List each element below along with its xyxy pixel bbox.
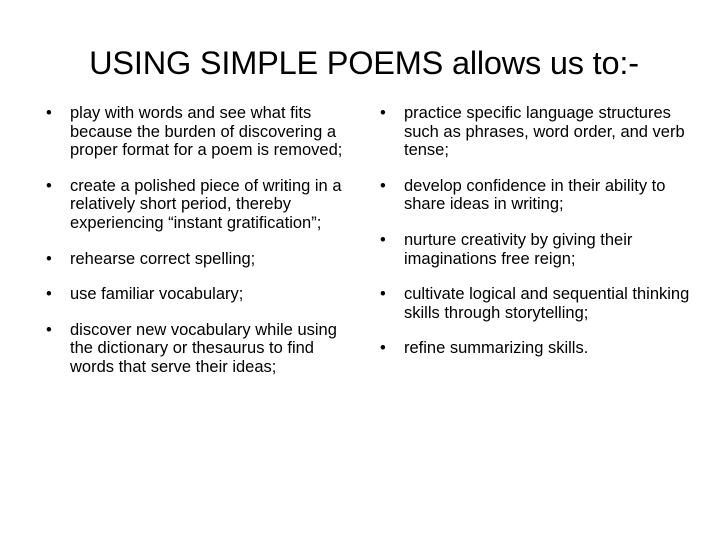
bullet-point-icon: • — [46, 177, 60, 196]
bullet-point-icon: • — [380, 231, 394, 250]
list-item-text: practice specific language structures su… — [404, 104, 690, 160]
list-item-text: play with words and see what fits becaus… — [70, 104, 354, 160]
list-item: • refine summarizing skills. — [374, 339, 690, 358]
bullet-point-icon: • — [380, 285, 394, 304]
bullet-column-right: • practice specific language structures … — [366, 104, 728, 358]
list-item: • practice specific language structures … — [374, 104, 690, 160]
list-item: • rehearse correct spelling; — [40, 250, 354, 269]
list-item: • nurture creativity by giving their ima… — [374, 231, 690, 268]
bullet-point-icon: • — [380, 104, 394, 123]
list-item-text: refine summarizing skills. — [404, 339, 690, 358]
bullet-point-icon: • — [46, 250, 60, 269]
bullet-point-icon: • — [380, 177, 394, 196]
list-item: • create a polished piece of writing in … — [40, 177, 354, 233]
list-item: • play with words and see what fits beca… — [40, 104, 354, 160]
list-item: • discover new vocabulary while using th… — [40, 321, 354, 377]
bullet-list-right: • practice specific language structures … — [374, 104, 690, 358]
list-item-text: create a polished piece of writing in a … — [70, 177, 354, 233]
bullet-point-icon: • — [46, 285, 60, 304]
bullet-point-icon: • — [46, 104, 60, 123]
bullet-point-icon: • — [380, 339, 394, 358]
bullet-column-left: • play with words and see what fits beca… — [0, 104, 366, 377]
slide-body-columns: • play with words and see what fits beca… — [0, 104, 728, 377]
list-item-text: develop confidence in their ability to s… — [404, 177, 690, 214]
page-title: USING SIMPLE POEMS allows us to:- — [40, 44, 688, 82]
list-item-text: use familiar vocabulary; — [70, 285, 354, 304]
bullet-list-left: • play with words and see what fits beca… — [40, 104, 354, 377]
presentation-slide: USING SIMPLE POEMS allows us to:- • play… — [0, 0, 728, 546]
list-item-text: rehearse correct spelling; — [70, 250, 354, 269]
list-item-text: nurture creativity by giving their imagi… — [404, 231, 690, 268]
list-item-text: discover new vocabulary while using the … — [70, 321, 354, 377]
list-item: • cultivate logical and sequential think… — [374, 285, 690, 322]
list-item-text: cultivate logical and sequential thinkin… — [404, 285, 690, 322]
bullet-point-icon: • — [46, 321, 60, 340]
list-item: • use familiar vocabulary; — [40, 285, 354, 304]
list-item: • develop confidence in their ability to… — [374, 177, 690, 214]
